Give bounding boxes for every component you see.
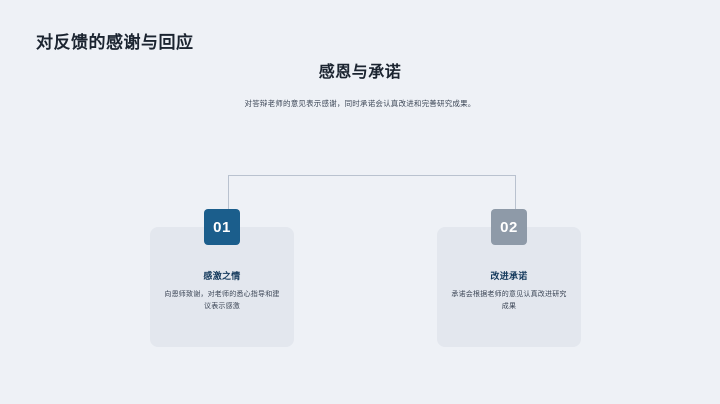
card-number-badge: 01	[204, 209, 240, 245]
slide: 对反馈的感谢与回应 感恩与承诺 对答辩老师的意见表示感谢，同时承诺会认真改进和完…	[0, 0, 720, 404]
card-item-01: 01 感激之情 向恩师致谢，对老师的悉心指导和建议表示感激	[150, 227, 294, 347]
card-title: 感激之情	[150, 269, 294, 282]
card-title: 改进承诺	[437, 269, 581, 282]
section-heading: 感恩与承诺	[0, 58, 720, 82]
section-subtitle: 对答辩老师的意见表示感谢，同时承诺会认真改进和完善研究成果。	[0, 98, 720, 109]
connector-horizontal-line	[228, 175, 516, 176]
card-number-badge: 02	[491, 209, 527, 245]
card-item-02: 02 改进承诺 承诺会根据老师的意见认真改进研究成果	[437, 227, 581, 347]
page-title: 对反馈的感谢与回应	[36, 28, 194, 53]
card-body-text: 承诺会根据老师的意见认真改进研究成果	[449, 289, 569, 313]
card-body-text: 向恩师致谢，对老师的悉心指导和建议表示感激	[162, 289, 282, 313]
